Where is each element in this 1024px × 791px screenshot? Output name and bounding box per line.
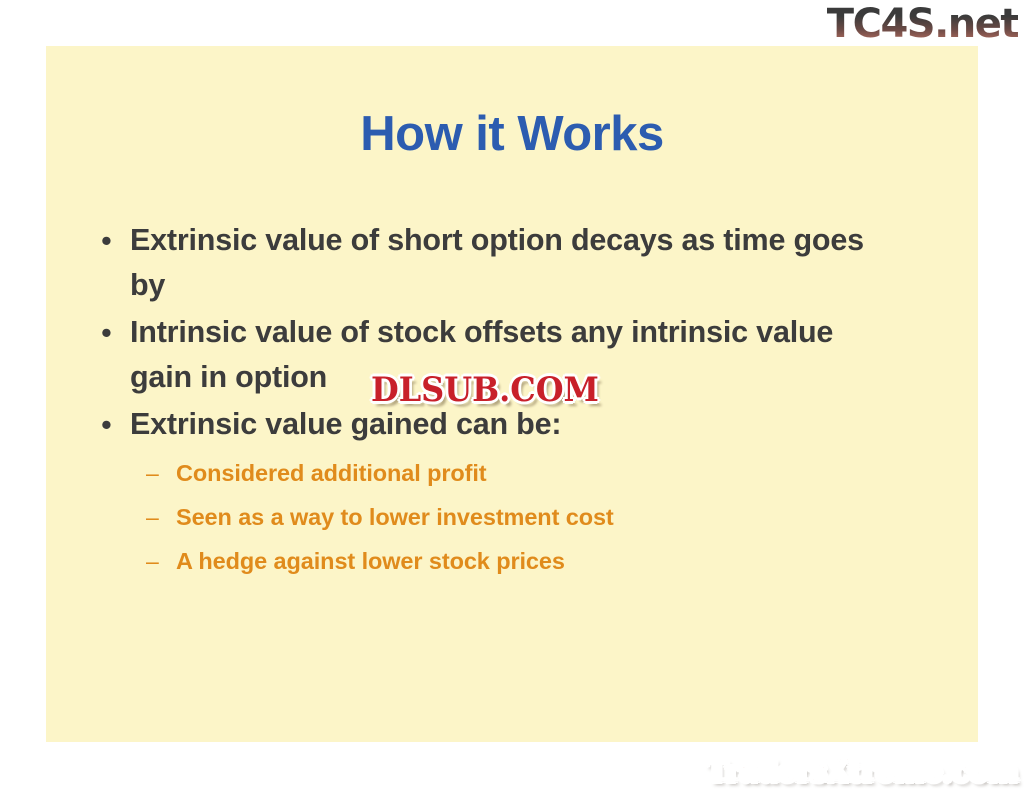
bullet-text: Extrinsic value of short option decays a…	[130, 218, 890, 308]
list-item: • Extrinsic value of short option decays…	[96, 218, 956, 308]
watermark-tc4s: TC4S.net	[827, 2, 1018, 46]
sub-bullet-text: Seen as a way to lower investment cost	[176, 501, 956, 534]
sub-list-item: – Considered additional profit	[146, 457, 956, 490]
sub-list-item: – A hedge against lower stock prices	[146, 545, 956, 578]
sub-bullet-text: Considered additional profit	[176, 457, 956, 490]
sub-bullet-list: – Considered additional profit – Seen as…	[146, 457, 956, 578]
bullet-dot-icon: •	[96, 402, 130, 447]
watermark-dlsub: DLSUB.COM	[371, 371, 599, 409]
watermark-tradersxtreme: TradersXtreme.com	[706, 754, 1018, 788]
sub-bullet-text: A hedge against lower stock prices	[176, 545, 956, 578]
bullet-dash-icon: –	[146, 545, 176, 578]
sub-list-item: – Seen as a way to lower investment cost	[146, 501, 956, 534]
page-title: How it Works	[46, 110, 978, 159]
bullet-dot-icon: •	[96, 218, 130, 263]
bullet-dash-icon: –	[146, 457, 176, 490]
bullet-dash-icon: –	[146, 501, 176, 534]
bullet-dot-icon: •	[96, 310, 130, 355]
watermark-tradersxtreme-text: TradersXtreme.com	[706, 754, 1018, 788]
